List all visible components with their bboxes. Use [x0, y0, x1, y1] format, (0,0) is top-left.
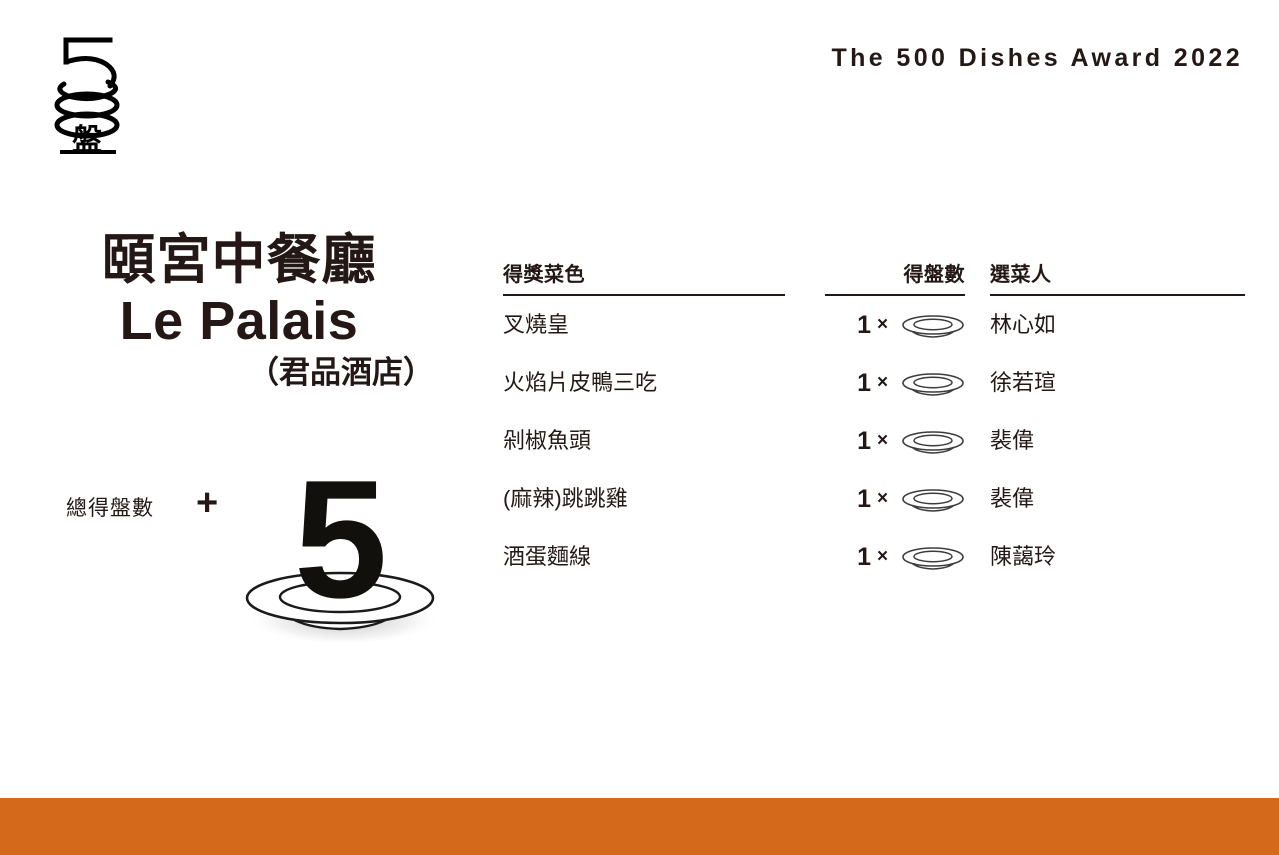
- column-header-plates: 得盤數: [825, 258, 965, 287]
- table-row: (麻辣)跳跳雞 1 × 裴偉: [503, 484, 1247, 542]
- header-rule-plates: [825, 294, 965, 296]
- cell-dish: 剁椒魚頭: [503, 426, 591, 456]
- cell-dish: 火焰片皮鴨三吃: [503, 368, 657, 398]
- cell-multiply-symbol: ×: [877, 542, 888, 572]
- plate-icon: [901, 429, 965, 455]
- cell-plate-count: 1: [835, 426, 871, 456]
- award-title: The 500 Dishes Award 2022: [831, 44, 1243, 73]
- column-header-dish: 得獎菜色: [503, 258, 585, 287]
- cell-multiply-symbol: ×: [877, 310, 888, 340]
- award-poster: 盤 The 500 Dishes Award 2022 頤宮中餐廳 Le Pal…: [0, 0, 1279, 855]
- cell-plate-count: 1: [835, 542, 871, 572]
- cell-multiply-symbol: ×: [877, 484, 888, 514]
- award-table: 得獎菜色 得盤數 選菜人 叉燒皇 1 × 林心如 火焰片皮鴨三吃 1 ×: [503, 258, 1247, 300]
- cell-plate-count: 1: [835, 310, 871, 340]
- table-row: 火焰片皮鴨三吃 1 × 徐若瑄: [503, 368, 1247, 426]
- plus-sign: +: [196, 484, 218, 522]
- plate-icon: [901, 371, 965, 397]
- table-header-row: 得獎菜色 得盤數 選菜人: [503, 258, 1247, 300]
- cell-plate-count: 1: [835, 484, 871, 514]
- cell-dish: 叉燒皇: [503, 310, 569, 340]
- restaurant-name-cn: 頤宮中餐廳: [0, 232, 470, 289]
- header-rule-picker: [990, 294, 1245, 296]
- cell-dish: 酒蛋麵線: [503, 542, 591, 572]
- cell-multiply-symbol: ×: [877, 368, 888, 398]
- header-rule-dish: [503, 294, 785, 296]
- total-score-group: 5: [232, 455, 447, 655]
- restaurant-group-name: （君品酒店）: [0, 354, 434, 391]
- table-row: 叉燒皇 1 × 林心如: [503, 310, 1247, 368]
- cell-picker: 裴偉: [990, 426, 1034, 456]
- cell-dish: (麻辣)跳跳雞: [503, 484, 628, 514]
- plate-icon: [901, 545, 965, 571]
- table-row: 酒蛋麵線 1 × 陳藹玲: [503, 542, 1247, 600]
- restaurant-name-en: Le Palais: [0, 291, 470, 351]
- restaurant-block: 頤宮中餐廳 Le Palais （君品酒店）: [0, 232, 470, 391]
- plate-icon: [901, 313, 965, 339]
- svg-text:盤: 盤: [72, 124, 102, 154]
- cell-plate-count: 1: [835, 368, 871, 398]
- cell-multiply-symbol: ×: [877, 426, 888, 456]
- total-score-value: 5: [294, 455, 383, 623]
- table-row: 剁椒魚頭 1 × 裴偉: [503, 426, 1247, 484]
- table-body: 叉燒皇 1 × 林心如 火焰片皮鴨三吃 1 × 徐若瑄 剁椒魚頭 1 ×: [503, 310, 1247, 600]
- cell-picker: 徐若瑄: [990, 368, 1056, 398]
- cell-picker: 裴偉: [990, 484, 1034, 514]
- cell-picker: 林心如: [990, 310, 1056, 340]
- footer-color-bar: [0, 798, 1279, 855]
- total-plates-label: 總得盤數: [66, 492, 154, 522]
- column-header-picker: 選菜人: [990, 258, 1052, 287]
- cell-picker: 陳藹玲: [990, 542, 1056, 572]
- five-plates-logo: 盤: [38, 24, 158, 154]
- plate-icon: [901, 487, 965, 513]
